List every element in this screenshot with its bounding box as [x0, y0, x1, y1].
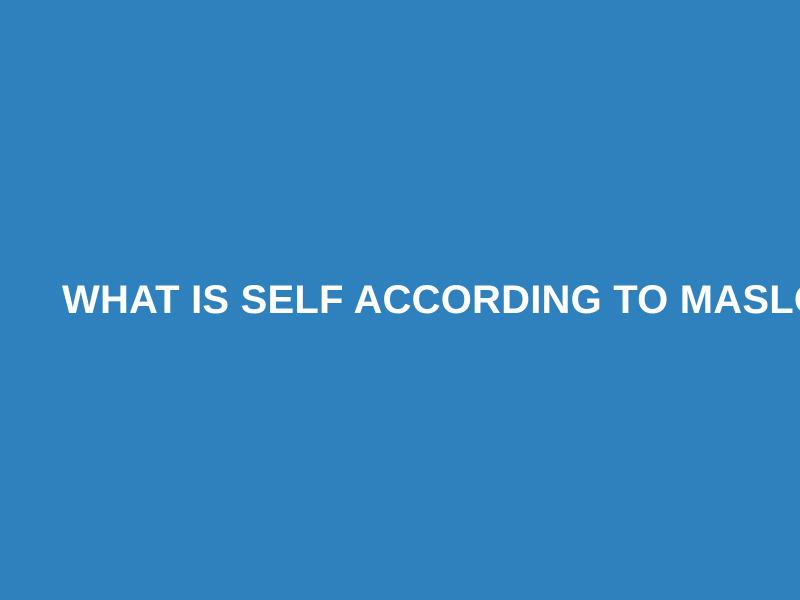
title-card: What is Self According to Maslow?: [0, 0, 800, 600]
page-title: What is Self According to Maslow?: [0, 277, 800, 323]
